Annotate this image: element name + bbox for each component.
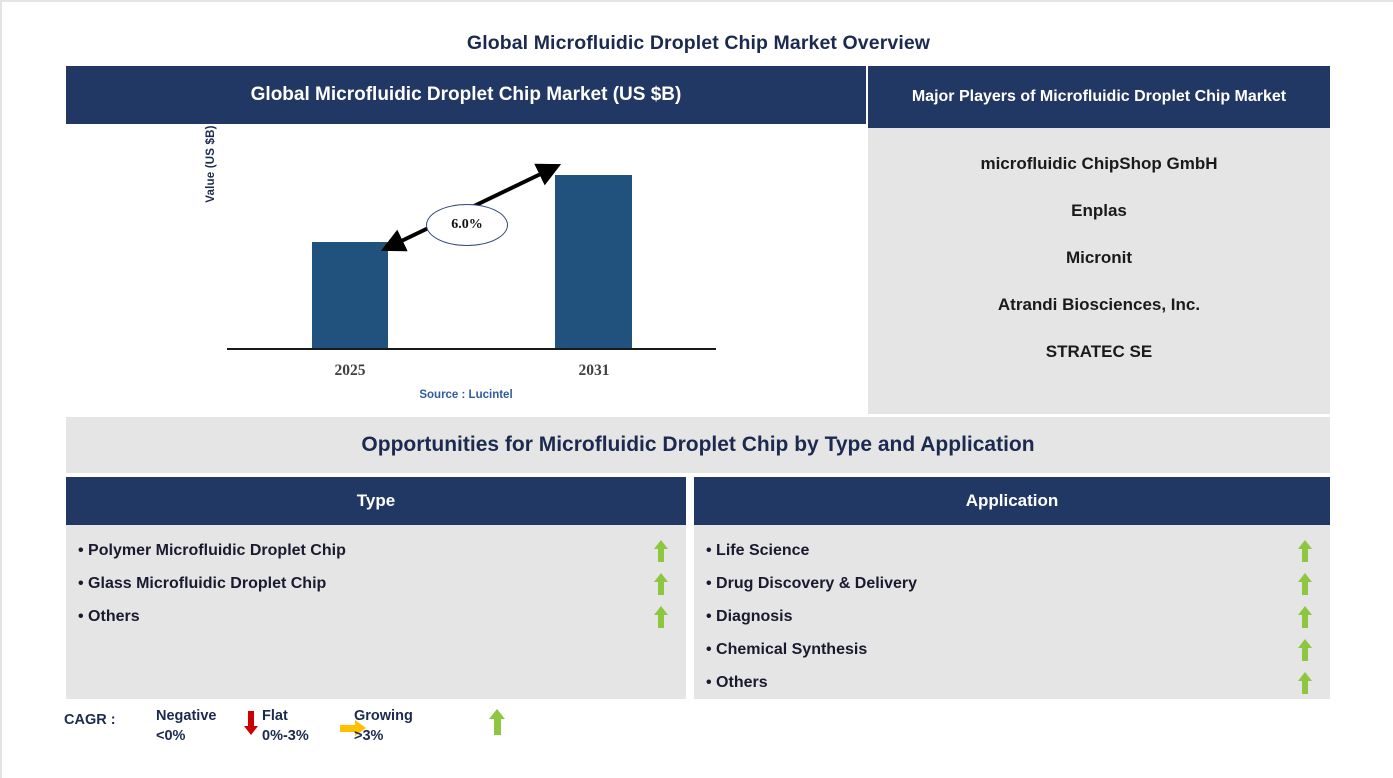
trend-up-icon <box>1298 606 1312 628</box>
page-title: Global Microfluidic Droplet Chip Market … <box>2 32 1393 55</box>
opportunities-header: Opportunities for Microfluidic Droplet C… <box>66 417 1330 473</box>
application-item-label: • Chemical Synthesis <box>706 641 867 659</box>
market-chart-header: Global Microfluidic Droplet Chip Market … <box>66 66 866 124</box>
legend-negative: Negative <0% <box>156 707 216 746</box>
type-table: Type • Polymer Microfluidic Droplet Chip… <box>66 477 686 699</box>
legend-flat-range: 0%-3% <box>262 727 309 747</box>
legend-growing-label: Growing <box>354 707 413 727</box>
list-item: Enplas <box>868 201 1330 221</box>
table-row: • Others <box>694 666 1330 699</box>
legend-growing: Growing >3% <box>354 707 413 746</box>
table-row: • Drug Discovery & Delivery <box>694 567 1330 600</box>
cagr-value-bubble: 6.0% <box>426 204 508 246</box>
type-item-label: • Others <box>78 608 140 626</box>
bar-2025 <box>312 242 388 348</box>
trend-up-icon <box>1298 639 1312 661</box>
table-row: • Chemical Synthesis <box>694 633 1330 666</box>
chart-source-note: Source : Lucintel <box>66 389 866 401</box>
type-item-label: • Glass Microfluidic Droplet Chip <box>78 575 326 593</box>
chart-x-axis <box>227 348 716 350</box>
application-table-header: Application <box>694 477 1330 525</box>
cagr-legend-title: CAGR : <box>64 712 116 728</box>
application-item-label: • Diagnosis <box>706 608 793 626</box>
application-table: Application • Life Science • Drug Discov… <box>694 477 1330 699</box>
trend-up-icon <box>654 573 668 595</box>
type-table-body: • Polymer Microfluidic Droplet Chip • Gl… <box>66 525 686 699</box>
trend-up-icon <box>1298 573 1312 595</box>
infographic-page: Global Microfluidic Droplet Chip Market … <box>0 0 1393 778</box>
market-chart-body: Value (US $B) 6.0% 2 <box>66 124 866 414</box>
application-table-body: • Life Science • Drug Discovery & Delive… <box>694 525 1330 699</box>
table-row: • Glass Microfluidic Droplet Chip <box>66 567 686 600</box>
legend-negative-range: <0% <box>156 727 216 747</box>
trend-up-icon <box>1298 540 1312 562</box>
bar-2031 <box>555 175 632 348</box>
list-item: Atrandi Biosciences, Inc. <box>868 295 1330 315</box>
major-players-panel: Major Players of Microfluidic Droplet Ch… <box>868 66 1330 414</box>
application-item-label: • Drug Discovery & Delivery <box>706 575 917 593</box>
legend-flat: Flat 0%-3% <box>262 707 309 746</box>
application-item-label: • Life Science <box>706 542 809 560</box>
trend-up-icon <box>489 709 505 735</box>
table-row: • Diagnosis <box>694 600 1330 633</box>
cagr-legend: CAGR : Negative <0% Flat 0%-3% Growing >… <box>64 707 534 759</box>
major-players-header: Major Players of Microfluidic Droplet Ch… <box>868 66 1330 128</box>
x-tick-2031: 2031 <box>544 362 644 380</box>
application-item-label: • Others <box>706 674 768 692</box>
chart-y-axis-label: Value (US $B) <box>205 104 217 224</box>
type-table-header: Type <box>66 477 686 525</box>
table-row: • Polymer Microfluidic Droplet Chip <box>66 534 686 567</box>
trend-up-icon <box>654 606 668 628</box>
trend-down-icon <box>244 711 258 735</box>
trend-up-icon <box>654 540 668 562</box>
major-players-list: microfluidic ChipShop GmbH Enplas Micron… <box>868 128 1330 414</box>
legend-negative-label: Negative <box>156 707 216 727</box>
trend-up-icon <box>1298 672 1312 694</box>
legend-growing-range: >3% <box>354 727 413 747</box>
cagr-growth-arrow-icon <box>66 124 866 414</box>
top-row: Global Microfluidic Droplet Chip Market … <box>66 66 1330 414</box>
list-item: Micronit <box>868 248 1330 268</box>
market-chart-panel: Global Microfluidic Droplet Chip Market … <box>66 66 866 414</box>
legend-flat-label: Flat <box>262 707 309 727</box>
type-item-label: • Polymer Microfluidic Droplet Chip <box>78 542 346 560</box>
x-tick-2025: 2025 <box>300 362 400 380</box>
table-row: • Life Science <box>694 534 1330 567</box>
table-row: • Others <box>66 600 686 633</box>
list-item: microfluidic ChipShop GmbH <box>868 154 1330 174</box>
list-item: STRATEC SE <box>868 342 1330 362</box>
